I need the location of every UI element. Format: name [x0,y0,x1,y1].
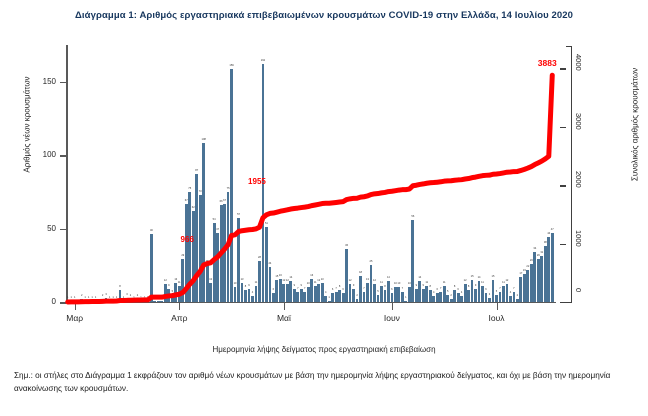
y-tick-right-label: 1000 [574,230,583,247]
y-tick-right [560,302,566,303]
y-tick-right [560,185,566,186]
y-tick-left [60,302,66,304]
y-tick-right-label: 4000 [574,54,583,71]
plot-area: 1112111123111813212111461295131129677562… [66,45,554,302]
chart-footnote: Σημ.: οι στήλες στο Διάγραμμα 1 εκφράζου… [14,370,634,395]
chart-title: Διάγραμμα 1: Αριθμός εργαστηριακά επιβεβ… [0,10,648,21]
y-tick-right [560,68,566,69]
cumulative-line-series [66,45,554,302]
y-tick-left-label: 0 [30,297,56,306]
y-tick-right-label: 2000 [574,171,583,188]
x-tick-label: Ιουν [384,313,400,323]
chart-page: Διάγραμμα 1: Αριθμός εργαστηριακά επιβεβ… [0,0,648,416]
cumulative-line-path [68,75,553,302]
x-axis-label: Ημερομηνία λήψης δείγματος προς εργαστηρ… [0,345,648,354]
y-axis-right-bracket [566,46,572,303]
x-tick-label: Απρ [171,313,187,323]
y-axis-right-label: Συνολικός αριθμός κρουσμάτων [631,30,640,220]
x-tick [392,303,393,310]
y-tick-left-label: 50 [30,224,56,233]
x-tick [179,303,180,310]
y-tick-right-label: 3000 [574,113,583,130]
cumulative-annotation: 1955 [248,177,266,186]
x-tick [284,303,285,310]
y-tick-right [560,244,566,245]
cumulative-annotation: 3883 [538,58,557,68]
x-tick-label: Ιουλ [489,313,505,323]
y-tick-right [560,127,566,128]
x-tick [497,303,498,310]
x-tick-label: Μαρ [66,313,83,323]
y-axis-left-label: Αριθμός νέων κρουσμάτων [23,40,32,210]
y-tick-left-label: 100 [30,150,56,159]
y-tick-right-label: 0 [574,288,583,292]
y-tick-left-label: 150 [30,77,56,86]
cumulative-annotation: 966 [181,235,194,244]
x-tick-label: Μαϊ [277,313,291,323]
